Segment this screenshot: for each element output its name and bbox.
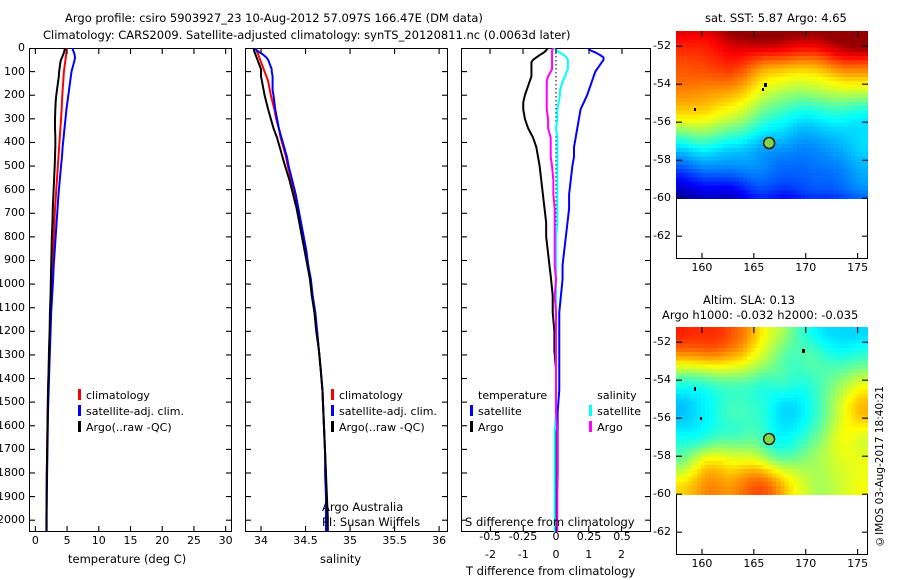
axis-tick-label: 200 [4, 88, 25, 101]
legend-label: satellite-adj. clim. [86, 405, 184, 418]
sst-map-xaxis-ticks: 160165170175 [676, 261, 868, 276]
axis-tick-label: 5 [64, 534, 71, 547]
axis-tick-label: 160 [691, 261, 712, 274]
axis-tick-label: 0 [553, 530, 560, 543]
legend-item-salinity-satellite: satellite [589, 405, 641, 418]
axis-tick-label: 800 [4, 230, 25, 243]
axis-tick-label: 35 [343, 534, 357, 547]
legend-item-climatology: climatology [331, 389, 437, 402]
salinity-axis-label: salinity [320, 552, 361, 566]
axis-tick-label: 2000 [0, 513, 25, 526]
difference-legend: temperature satellite Argo salinity sate… [470, 389, 641, 434]
legend-label: Argo [478, 421, 504, 434]
axis-tick-label: 100 [4, 65, 25, 78]
axis-tick-label: -62 [653, 525, 671, 538]
salinity-xaxis-ticks: 3434.53535.536 [245, 534, 448, 550]
imos-watermark: ©IMOS 03-Aug-2017 18:40:21 [874, 386, 886, 547]
axis-tick-label: 300 [4, 112, 25, 125]
axis-tick-label: -60 [653, 487, 671, 500]
legend-label: climatology [86, 389, 150, 402]
legend-item-satellite-adj: satellite-adj. clim. [331, 405, 437, 418]
legend-swatch-argo-icon [331, 421, 334, 432]
difference-salinity-axis-label: S difference from climatology [465, 515, 635, 529]
sla-map-xaxis-ticks: 160165170175 [676, 557, 868, 572]
sst-map-canvas [676, 31, 868, 259]
axis-tick-label: 0.5 [613, 530, 631, 543]
axis-tick-label: 170 [795, 557, 816, 570]
axis-tick-label: -52 [653, 39, 671, 52]
difference-legend-temperature-column: temperature satellite Argo [470, 389, 547, 434]
axis-tick-label: 175 [847, 261, 868, 274]
argo-australia-credit: Argo Australia [322, 500, 403, 514]
legend-swatch-salinity-satellite-icon [589, 405, 592, 416]
axis-tick-label: 15 [124, 534, 138, 547]
legend-item-temperature-satellite: satellite [470, 405, 547, 418]
temperature-axis-label: temperature (deg C) [68, 552, 186, 566]
axis-tick-label: 35.5 [382, 534, 407, 547]
axis-tick-label: 0.25 [577, 530, 602, 543]
salinity-legend: climatology satellite-adj. clim. Argo(..… [331, 389, 437, 434]
difference-saxis-ticks: -0.5-0.2500.250.5 [461, 530, 651, 545]
axis-tick-label: 1 [585, 548, 592, 561]
axis-tick-label: -62 [653, 229, 671, 242]
axis-tick-label: 170 [795, 261, 816, 274]
legend-swatch-satellite-adj-icon [331, 405, 334, 416]
axis-tick-label: 400 [4, 135, 25, 148]
legend-swatch-argo-icon [78, 421, 81, 432]
axis-tick-label: 1200 [0, 324, 25, 337]
legend-label: Argo(..raw -QC) [86, 421, 172, 434]
axis-tick-label: 600 [4, 183, 25, 196]
axis-tick-label: 1400 [0, 372, 25, 385]
axis-tick-label: 1500 [0, 395, 25, 408]
axis-tick-label: -0.5 [479, 530, 500, 543]
axis-tick-label: -54 [653, 373, 671, 386]
axis-tick-label: -58 [653, 449, 671, 462]
axis-tick-label: -0.25 [509, 530, 537, 543]
axis-tick-label: 1600 [0, 419, 25, 432]
axis-tick-label: 0 [18, 41, 25, 54]
legend-item-satellite-adj: satellite-adj. clim. [78, 405, 184, 418]
axis-tick-label: 500 [4, 159, 25, 172]
axis-tick-label: 25 [187, 534, 201, 547]
legend-swatch-climatology-icon [331, 389, 334, 400]
sla-map-yaxis-ticks: -52-54-56-58-60-62 [640, 327, 676, 555]
legend-item-argo: Argo(..raw -QC) [331, 421, 437, 434]
axis-tick-label: 165 [743, 557, 764, 570]
axis-tick-label: -60 [653, 191, 671, 204]
difference-taxis-ticks: -2-1012 [461, 548, 651, 563]
pi-credit: PI: Susan Wijffels [322, 515, 420, 529]
axis-tick-label: 165 [743, 261, 764, 274]
legend-label: satellite-adj. clim. [339, 405, 437, 418]
axis-tick-label: 34 [254, 534, 268, 547]
legend-item-salinity-argo: Argo [589, 421, 641, 434]
difference-temperature-axis-label: T difference from climatology [466, 564, 635, 578]
axis-tick-label: -56 [653, 411, 671, 424]
axis-tick-label: -56 [653, 115, 671, 128]
axis-tick-label: 1000 [0, 277, 25, 290]
salinity-plot-canvas [245, 48, 448, 532]
sla-map-title-line2: Argo h1000: -0.032 h2000: -0.035 [662, 308, 858, 322]
legend-label: satellite [597, 405, 641, 418]
legend-swatch-salinity-argo-icon [589, 421, 592, 432]
sla-map-canvas [676, 327, 868, 555]
axis-tick-label: 0 [32, 534, 39, 547]
legend-label: satellite [478, 405, 522, 418]
axis-tick-label: 1900 [0, 490, 25, 503]
axis-tick-label: 30 [219, 534, 233, 547]
axis-tick-label: 0 [553, 548, 560, 561]
page-title-line1: Argo profile: csiro 5903927_23 10-Aug-20… [65, 11, 483, 25]
legend-swatch-temperature-argo-icon [470, 421, 473, 432]
sla-map-title-line1: Altim. SLA: 0.13 [703, 293, 795, 307]
axis-tick-label: 1800 [0, 466, 25, 479]
legend-item-temperature-argo: Argo [470, 421, 547, 434]
legend-label: Argo(..raw -QC) [339, 421, 425, 434]
legend-item-climatology: climatology [78, 389, 184, 402]
axis-tick-label: 10 [92, 534, 106, 547]
axis-tick-label: -2 [485, 548, 496, 561]
axis-tick-label: 160 [691, 557, 712, 570]
axis-tick-label: -52 [653, 335, 671, 348]
axis-tick-label: 1700 [0, 442, 25, 455]
axis-tick-label: -54 [653, 77, 671, 90]
page-title-line2: Climatology: CARS2009. Satellite-adjuste… [43, 28, 571, 42]
axis-tick-label: 34.5 [293, 534, 318, 547]
legend-column-title: salinity [597, 389, 641, 402]
temperature-plot-canvas [29, 48, 232, 532]
legend-item-argo: Argo(..raw -QC) [78, 421, 184, 434]
axis-tick-label: 2 [618, 548, 625, 561]
axis-tick-label: 175 [847, 557, 868, 570]
legend-swatch-satellite-adj-icon [78, 405, 81, 416]
legend-swatch-temperature-satellite-icon [470, 405, 473, 416]
difference-legend-salinity-column: salinity satellite Argo [589, 389, 641, 434]
axis-tick-label: -58 [653, 153, 671, 166]
legend-swatch-climatology-icon [78, 389, 81, 400]
axis-tick-label: 1100 [0, 301, 25, 314]
difference-plot-canvas [461, 48, 651, 532]
axis-tick-label: 36 [432, 534, 446, 547]
axis-tick-label: 700 [4, 206, 25, 219]
axis-tick-label: 1300 [0, 348, 25, 361]
temperature-legend: climatology satellite-adj. clim. Argo(..… [78, 389, 184, 434]
sst-map-yaxis-ticks: -52-54-56-58-60-62 [640, 31, 676, 259]
axis-tick-label: 900 [4, 253, 25, 266]
legend-column-title: temperature [478, 389, 547, 402]
temperature-yaxis-ticks: 0100200300400500600700800900100011001200… [0, 48, 29, 532]
legend-label: climatology [339, 389, 403, 402]
legend-label: Argo [597, 421, 623, 434]
axis-tick-label: 20 [155, 534, 169, 547]
sst-map-title: sat. SST: 5.87 Argo: 4.65 [705, 11, 847, 25]
temperature-xaxis-ticks: 051015202530 [29, 534, 232, 550]
axis-tick-label: -1 [518, 548, 529, 561]
